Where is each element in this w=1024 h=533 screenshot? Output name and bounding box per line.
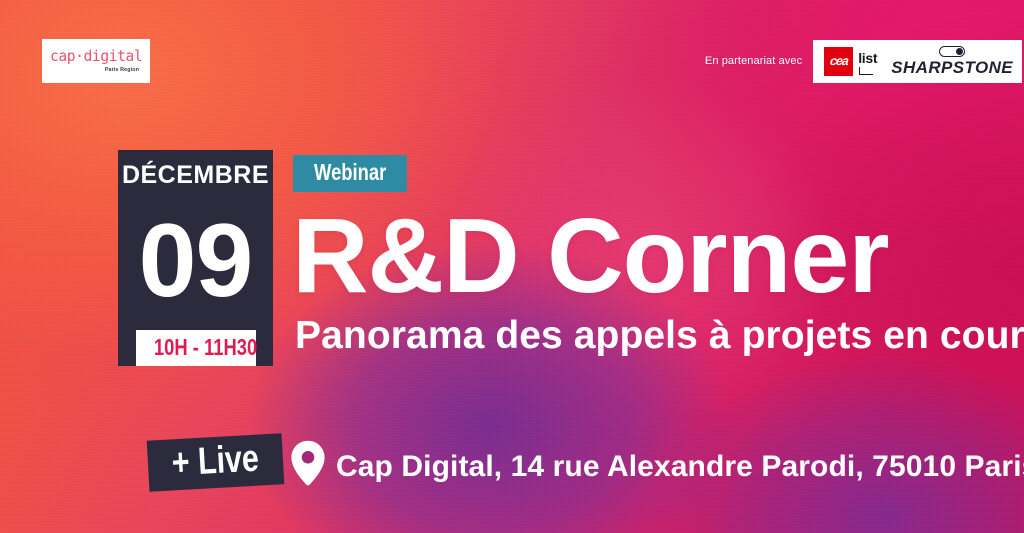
cea-list-logo[interactable]: cea list (824, 47, 877, 76)
event-day: 09 (139, 209, 253, 313)
live-badge-text: + Live (171, 440, 260, 483)
live-badge: + Live (147, 433, 284, 491)
sharpstone-wordmark: SHARPSTONE (891, 59, 1013, 76)
event-title-text: R&D Corner (292, 197, 889, 315)
event-month-text: DÉCEMBRE (122, 161, 269, 189)
event-address: Cap Digital, 14 rue Alexandre Parodi, 75… (336, 452, 1024, 482)
cea-mark-icon: cea (824, 47, 853, 76)
cea-list-word: list (858, 51, 877, 65)
event-day-text: 09 (139, 203, 253, 319)
partner-logos-panel: cea list SHARPSTONE (813, 40, 1022, 83)
cap-digital-logo[interactable]: cap·digital Paris Region (42, 39, 150, 83)
cap-digital-tagline: Paris Region (105, 68, 139, 73)
event-subtitle-text: Panorama des appels à projets en cours (295, 314, 1024, 357)
webinar-badge-text: Webinar (314, 161, 386, 184)
cea-mark-text: cea (829, 54, 848, 68)
sharpstone-logo[interactable]: SHARPSTONE (891, 46, 1013, 76)
cea-bracket-icon (859, 67, 873, 75)
sharpstone-pill-icon (939, 46, 965, 57)
cea-list-suffix: list (858, 51, 877, 76)
partners-block: En partenariat avec cea list SHARPSTONE (705, 36, 1022, 86)
location-pin-icon (290, 440, 326, 486)
event-date-card: DÉCEMBRE 09 10H - 11H30 (118, 150, 273, 366)
cap-digital-wordmark: cap·digital (50, 49, 142, 65)
event-address-text: Cap Digital, 14 rue Alexandre Parodi, 75… (336, 450, 1024, 483)
event-subtitle: Panorama des appels à projets en cours (295, 316, 1024, 355)
partners-label: En partenariat avec (705, 55, 802, 67)
event-time-badge: 10H - 11H30 (136, 330, 256, 366)
event-banner: cap·digital Paris Region En partenariat … (0, 0, 1024, 533)
event-month: DÉCEMBRE (122, 163, 269, 188)
webinar-badge: Webinar (293, 155, 407, 192)
event-title: R&D Corner (292, 203, 889, 309)
event-time-text: 10H - 11H30 (153, 336, 256, 359)
